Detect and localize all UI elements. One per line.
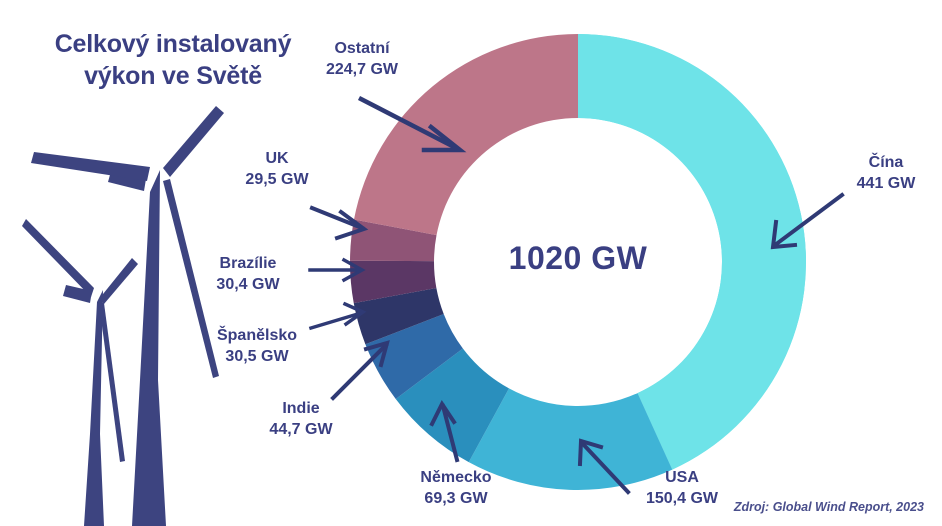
callout-label-ostatni: Ostatní 224,7 GW <box>302 38 422 80</box>
chart-graphics <box>0 0 942 526</box>
callout-label-ostatni-value: 224,7 GW <box>302 59 422 80</box>
callout-label-nemecko-name: Německo <box>392 467 520 488</box>
callout-label-uk-value: 29,5 GW <box>222 169 332 190</box>
callout-label-indie-value: 44,7 GW <box>246 419 356 440</box>
callout-label-nemecko: Německo 69,3 GW <box>392 467 520 509</box>
callout-label-cina-value: 441 GW <box>838 173 934 194</box>
callout-label-brazilie-name: Brazílie <box>193 253 303 274</box>
callout-label-uk-name: UK <box>222 148 332 169</box>
wind-turbine-large <box>31 106 224 526</box>
callout-label-indie: Indie 44,7 GW <box>246 398 356 440</box>
callout-label-uk: UK 29,5 GW <box>222 148 332 190</box>
callout-label-usa-value: 150,4 GW <box>627 488 737 509</box>
callout-label-cina-name: Čína <box>838 152 934 173</box>
donut-center-total: 1020 GW <box>478 240 678 277</box>
callout-label-usa-name: USA <box>627 467 737 488</box>
arrow-spanelsko <box>311 304 363 328</box>
callout-label-nemecko-value: 69,3 GW <box>392 488 520 509</box>
callout-label-indie-name: Indie <box>246 398 356 419</box>
source-note: Zdroj: Global Wind Report, 2023 <box>734 500 924 514</box>
wind-turbine-illustration <box>22 106 224 526</box>
infographic-canvas: Celkový instalovaný výkon ve Světě <box>0 0 942 526</box>
wind-turbine-small <box>22 219 138 526</box>
callout-label-cina: Čína 441 GW <box>838 152 934 194</box>
callout-label-usa: USA 150,4 GW <box>627 467 737 509</box>
callout-label-brazilie-value: 30,4 GW <box>193 274 303 295</box>
callout-label-ostatni-name: Ostatní <box>302 38 422 59</box>
callout-label-spanelsko-value: 30,5 GW <box>196 346 318 367</box>
callout-label-spanelsko-name: Španělsko <box>196 325 318 346</box>
callout-label-brazilie: Brazílie 30,4 GW <box>193 253 303 295</box>
callout-label-spanelsko: Španělsko 30,5 GW <box>196 325 318 367</box>
